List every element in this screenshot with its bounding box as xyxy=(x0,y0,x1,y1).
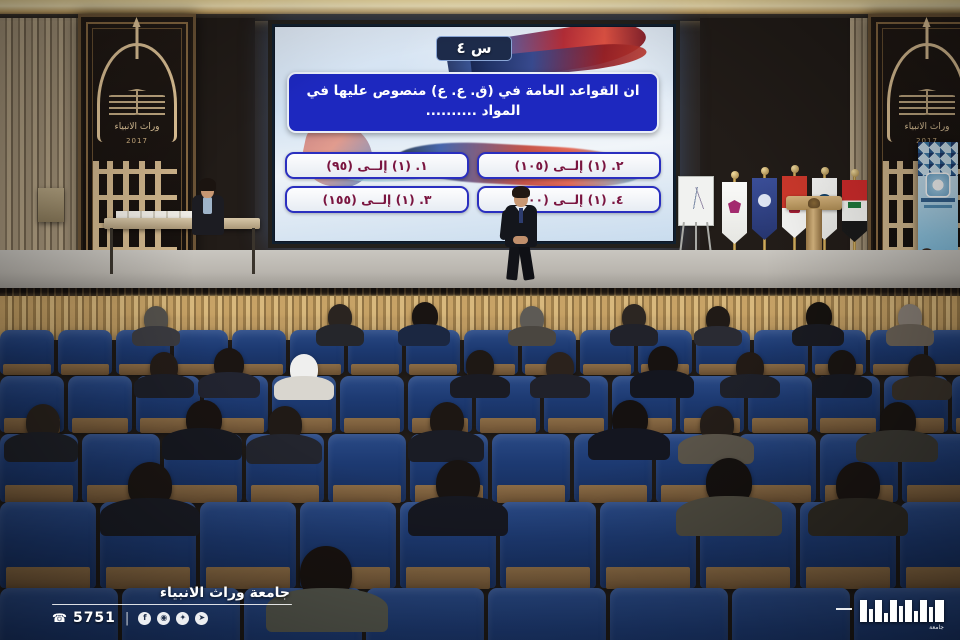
flipchart-writing xyxy=(684,187,708,209)
iraq-flag-script xyxy=(848,202,861,208)
seat xyxy=(492,434,570,502)
seat xyxy=(952,376,960,432)
answer-option-2-text: (١) إلــى (١٠٥) xyxy=(514,158,606,173)
answer-option-3: ٣. (١) إلــى (١٥٥) xyxy=(285,186,469,213)
flag-2-logo xyxy=(758,194,771,207)
answer-option-3-text: (١) إلــى (١٥٥) xyxy=(322,192,414,207)
seat xyxy=(0,502,96,588)
watermark-block: جامعة وراث الانبياء ☎ 5751 | f ◉ ✦ ➤ xyxy=(52,585,292,627)
table-top xyxy=(104,218,260,229)
presenter-hair xyxy=(512,186,530,198)
podium-emblem-icon xyxy=(808,198,820,208)
university-name: جامعة وراث الانبياء xyxy=(52,585,292,601)
watermark-logo: جامعة xyxy=(836,596,944,622)
emblem-year: 2017 xyxy=(126,137,148,145)
answer-option-1-text: (١) إلــى (٩٥) xyxy=(326,158,411,173)
wall-speaker xyxy=(38,188,64,222)
answer-option-2-num: ٢. xyxy=(611,158,623,173)
seat xyxy=(340,376,404,432)
question-number-badge: س ٤ xyxy=(436,36,512,61)
lecture-hall-room: وراث الانبياء 2017 وراث الانبياء 2017 xyxy=(0,0,960,640)
instagram-icon[interactable]: ◉ xyxy=(157,612,170,625)
table-leg xyxy=(252,228,255,274)
projection-screen: س ٤ ان القواعد العامة في (ق. ع. ع) منصوص… xyxy=(268,20,680,248)
banner-geometric-pattern xyxy=(918,142,958,176)
phone-number: 5751 xyxy=(73,610,116,626)
banner-headline xyxy=(921,198,955,202)
telegram-icon[interactable]: ➤ xyxy=(195,612,208,625)
presenter xyxy=(498,186,544,282)
presenter-hands xyxy=(513,236,528,244)
table-leg xyxy=(110,228,113,274)
logo-subtext: جامعة xyxy=(929,624,944,631)
twitter-icon[interactable]: ✦ xyxy=(176,612,189,625)
seated-moderator xyxy=(186,178,230,250)
presenter-tie xyxy=(519,208,523,223)
emblem-name: وراث الانبياء xyxy=(904,122,949,132)
contact-row: ☎ 5751 | f ◉ ✦ ➤ xyxy=(52,610,292,626)
seat xyxy=(68,376,132,432)
seat xyxy=(610,588,728,640)
slide-surface: س ٤ ان القواعد العامة في (ق. ع. ع) منصوص… xyxy=(275,27,673,241)
presenter-leg-right xyxy=(518,243,534,280)
seat xyxy=(500,502,596,588)
flipchart-sheet xyxy=(678,176,714,226)
seat xyxy=(732,588,850,640)
contact-separator: | xyxy=(125,611,129,626)
stage-table xyxy=(104,218,260,276)
seat xyxy=(58,330,112,374)
answer-option-1: ١. (١) إلــى (٩٥) xyxy=(285,152,469,179)
seat xyxy=(200,502,296,588)
podium-column xyxy=(806,209,822,255)
answer-option-1-num: ١. xyxy=(415,158,427,173)
question-text: ان القواعد العامة في (ق. ع. ع) منصوص علي… xyxy=(287,72,659,133)
emblem-name: وراث الانبياء xyxy=(114,122,159,132)
seat xyxy=(0,330,54,374)
screenshot-root: وراث الانبياء 2017 وراث الانبياء 2017 xyxy=(0,0,960,640)
seat xyxy=(900,502,960,588)
watermark-divider xyxy=(52,604,292,606)
kufic-logo-mark: جامعة xyxy=(860,596,944,622)
banner-logo-icon xyxy=(927,174,949,196)
answer-option-2: ٢. (١) إلــى (١٠٥) xyxy=(477,152,661,179)
phone-icon: ☎ xyxy=(52,612,67,624)
seat xyxy=(328,434,406,502)
moderator-shirt xyxy=(203,197,212,214)
seat xyxy=(488,588,606,640)
answer-option-4-num: ٤. xyxy=(611,192,623,207)
logo-dash xyxy=(836,608,852,610)
answer-option-3-num: ٣. xyxy=(419,192,431,207)
facebook-icon[interactable]: f xyxy=(138,612,151,625)
banner-subline xyxy=(924,205,952,208)
answer-options-grid: ٢. (١) إلــى (١٠٥) ١. (١) إلــى (٩٥) ٤. … xyxy=(285,152,661,213)
moderator-hair xyxy=(199,178,216,191)
